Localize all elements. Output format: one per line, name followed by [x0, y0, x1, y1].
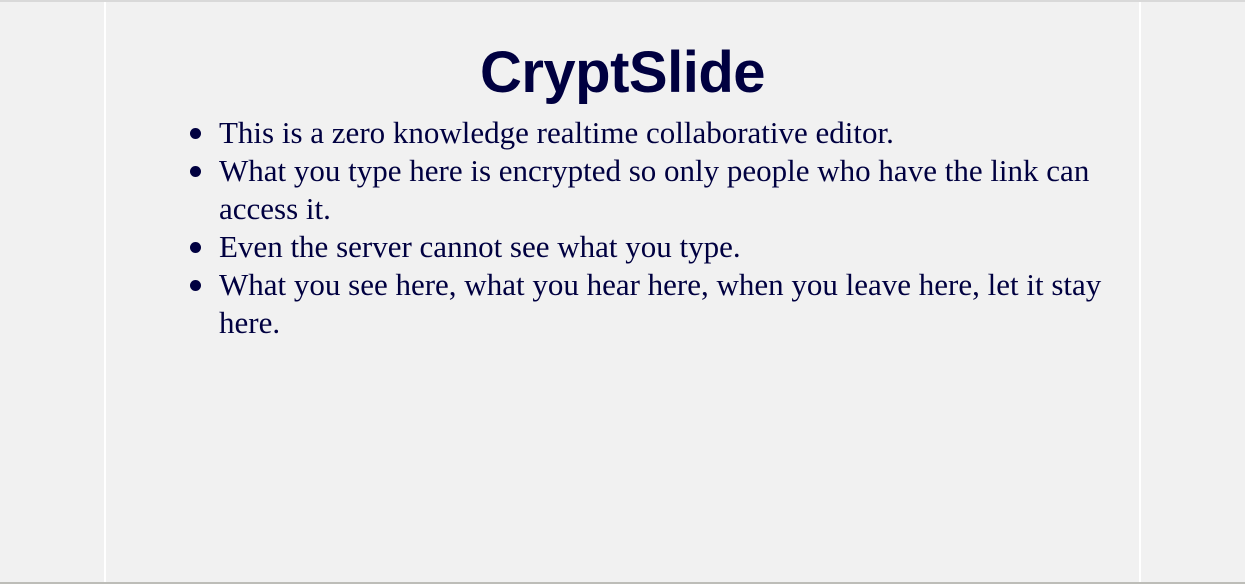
list-item[interactable]: This is a zero knowledge realtime collab… [146, 114, 1106, 152]
list-item-text: Even the server cannot see what you type… [219, 228, 1106, 266]
right-gutter [1141, 0, 1245, 584]
list-item-text: What you type here is encrypted so only … [219, 152, 1106, 228]
slide-canvas[interactable]: CryptSlide This is a zero knowledge real… [104, 0, 1141, 584]
list-item-text: This is a zero knowledge realtime collab… [219, 114, 1106, 152]
top-divider [0, 0, 1245, 2]
list-item[interactable]: What you see here, what you hear here, w… [146, 266, 1106, 342]
slide-bullet-list: This is a zero knowledge realtime collab… [146, 114, 1106, 342]
bullet-dot-icon [190, 242, 201, 253]
page-title: CryptSlide [106, 40, 1139, 106]
left-gutter [0, 0, 104, 584]
slide-viewer: CryptSlide This is a zero knowledge real… [0, 0, 1245, 584]
bullet-dot-icon [190, 166, 201, 177]
bullet-dot-icon [190, 280, 201, 291]
list-item[interactable]: Even the server cannot see what you type… [146, 228, 1106, 266]
bullet-dot-icon [190, 128, 201, 139]
list-item-text: What you see here, what you hear here, w… [219, 266, 1106, 342]
list-item[interactable]: What you type here is encrypted so only … [146, 152, 1106, 228]
